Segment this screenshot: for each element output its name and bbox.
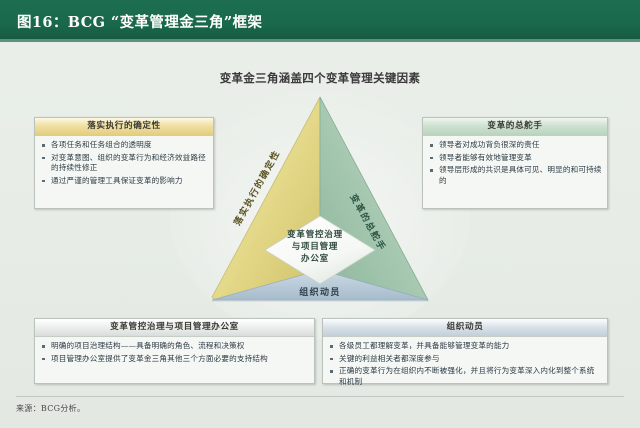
callout-body-governance-pmo: 明确的项目治理结构——具备明确的角色、流程和决策权 项目管理办公室提供了变革金三… xyxy=(35,337,314,370)
triangle-core-label: 变革管控治理 与项目管理 办公室 xyxy=(255,229,375,265)
callout-header-organization-mobilization: 组织动员 xyxy=(323,319,607,337)
bullet-list-execution-certainty: 各项任务和任务组合的透明度 对变革意图、组织的变革行为和经济效益路径的持续性修正… xyxy=(40,140,208,186)
callout-box-change-leader: 变革的总舵手 领导者对成功背负很深的责任 领导者能够有效地管理变革 领导层形成的… xyxy=(422,117,608,209)
triangle-label-bottom: 组织动员 xyxy=(0,285,640,298)
core-label-line-3: 办公室 xyxy=(255,253,375,265)
core-label-line-2: 与项目管理 xyxy=(255,241,375,253)
list-item: 各项任务和任务组合的透明度 xyxy=(40,140,208,151)
callout-header-execution-certainty: 落实执行的确定性 xyxy=(35,118,213,136)
callout-body-change-leader: 领导者对成功背负很深的责任 领导者能够有效地管理变革 领导层形成的共识是具体可见… xyxy=(423,136,607,192)
list-item: 领导者能够有效地管理变革 xyxy=(428,153,602,164)
bullet-list-change-leader: 领导者对成功背负很深的责任 领导者能够有效地管理变革 领导层形成的共识是具体可见… xyxy=(428,140,602,186)
slide-canvas: 图16：BCG “变革管理金三角”框架 变革金三角涵盖四个变革管理关键因素 xyxy=(0,0,640,428)
callout-box-governance-pmo: 变革管控治理与项目管理办公室 明确的项目治理结构——具备明确的角色、流程和决策权… xyxy=(34,318,315,384)
title-bar-rule xyxy=(0,39,640,42)
callout-body-organization-mobilization: 各级员工都理解变革，并具备能够管理变革的能力 关键的利益相关者都深度参与 正确的… xyxy=(323,337,607,393)
list-item: 各级员工都理解变革，并具备能够管理变革的能力 xyxy=(328,341,602,352)
list-item: 领导者对成功背负很深的责任 xyxy=(428,140,602,151)
triangle-label-left: 落实执行的确定性 xyxy=(230,147,282,227)
callout-header-change-leader: 变革的总舵手 xyxy=(423,118,607,136)
list-item: 项目管理办公室提供了变革金三角其他三个方面必要的支持结构 xyxy=(40,354,309,365)
list-item: 对变革意图、组织的变革行为和经济效益路径的持续性修正 xyxy=(40,153,208,174)
callout-body-execution-certainty: 各项任务和任务组合的透明度 对变革意图、组织的变革行为和经济效益路径的持续性修正… xyxy=(35,136,213,192)
callout-box-execution-certainty: 落实执行的确定性 各项任务和任务组合的透明度 对变革意图、组织的变革行为和经济效… xyxy=(34,117,214,209)
bullet-list-organization-mobilization: 各级员工都理解变革，并具备能够管理变革的能力 关键的利益相关者都深度参与 正确的… xyxy=(328,341,602,387)
list-item: 明确的项目治理结构——具备明确的角色、流程和决策权 xyxy=(40,341,309,352)
list-item: 关键的利益相关者都深度参与 xyxy=(328,354,602,365)
callout-box-organization-mobilization: 组织动员 各级员工都理解变革，并具备能够管理变革的能力 关键的利益相关者都深度参… xyxy=(322,318,608,384)
list-item: 领导层形成的共识是具体可见、明显的和可持续的 xyxy=(428,165,602,186)
page-title: 图16：BCG “变革管理金三角”框架 xyxy=(17,11,262,32)
footer-divider xyxy=(16,396,624,397)
triangle-face-left xyxy=(212,97,320,300)
source-note: 来源：BCG分析。 xyxy=(16,403,85,414)
core-label-line-1: 变革管控治理 xyxy=(255,229,375,241)
triangle-face-right xyxy=(320,97,428,300)
callout-header-governance-pmo: 变革管控治理与项目管理办公室 xyxy=(35,319,314,337)
headline: 变革金三角涵盖四个变革管理关键因素 xyxy=(0,70,640,86)
bullet-list-governance-pmo: 明确的项目治理结构——具备明确的角色、流程和决策权 项目管理办公室提供了变革金三… xyxy=(40,341,309,364)
list-item: 正确的变革行为在组织内不断被强化，并且将行为变革深入内化到整个系统和机制 xyxy=(328,366,602,387)
list-item: 通过严谨的管理工具保证变革的影响力 xyxy=(40,176,208,187)
